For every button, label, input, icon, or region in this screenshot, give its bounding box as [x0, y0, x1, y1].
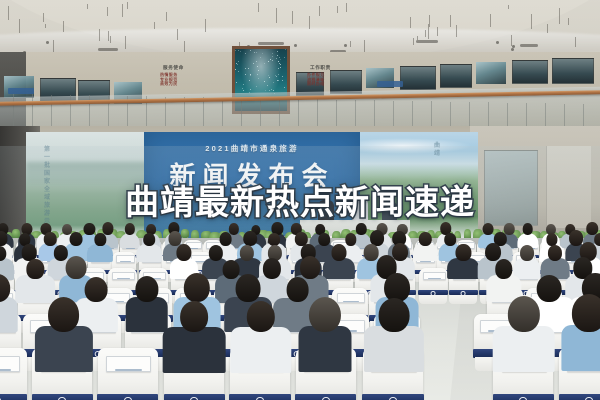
person-head: [236, 274, 261, 302]
chair-sash: [0, 394, 27, 400]
audience-member: [137, 233, 163, 264]
backdrop-right-vertical-text: 曲靖: [434, 142, 442, 158]
person-head: [144, 233, 156, 246]
wall-sign-title-2: 工作职责: [310, 65, 331, 71]
chair-name-card: [0, 356, 20, 372]
audience-member: [125, 276, 168, 337]
person-torso: [561, 325, 600, 371]
person-head: [176, 244, 191, 261]
person-torso: [364, 326, 424, 372]
person-head: [300, 256, 320, 278]
person-torso: [137, 244, 163, 262]
person-head: [508, 296, 540, 332]
person-head: [247, 301, 275, 333]
right-wall-panel: [546, 146, 591, 228]
audience-member: [299, 297, 352, 379]
chair-back: [0, 348, 27, 400]
audience-member: [364, 298, 424, 378]
person-torso: [0, 297, 18, 332]
person-head: [522, 223, 533, 235]
audience-member: [163, 301, 226, 378]
right-glass-partition: [484, 150, 538, 226]
person-head: [378, 298, 409, 333]
audience-member: [35, 297, 93, 379]
wall-sign-lines-2: 办件规范流程清晰限时办结: [307, 73, 325, 87]
blue-sign-left: [8, 88, 34, 94]
audience-chair: [0, 348, 27, 400]
news-hero-image: 服务使命 热情服务专业规范高效为民 工作职责 办件规范流程清晰限时办结 第一批国…: [0, 0, 600, 400]
person-torso: [230, 327, 291, 373]
audience-chair: [98, 348, 158, 400]
person-head: [419, 232, 431, 246]
person-head: [244, 231, 258, 246]
person-torso: [163, 327, 226, 373]
person-head: [572, 294, 600, 332]
person-torso: [35, 326, 93, 372]
stage-speaker-1: [318, 200, 334, 220]
person-torso: [492, 326, 555, 372]
audience-member: [413, 232, 437, 264]
chair-name-card: [116, 255, 135, 263]
audience-member: [492, 296, 555, 378]
stage-speaker-3: [382, 201, 397, 220]
wall-sign-lines-1: 热情服务专业规范高效为民: [160, 73, 178, 87]
audience-member: [0, 274, 18, 337]
person-head: [27, 259, 44, 278]
person-head: [184, 273, 210, 303]
person-head: [135, 276, 158, 302]
person-head: [95, 233, 106, 246]
person-torso: [299, 326, 352, 372]
wall-sign-title-1: 服务使命: [163, 65, 184, 71]
person-torso: [448, 258, 480, 280]
person-head: [22, 244, 37, 261]
person-head: [180, 301, 208, 332]
person-torso: [125, 297, 168, 332]
person-head: [456, 244, 471, 261]
chair-sash: [559, 394, 600, 400]
audience-member: [230, 301, 291, 379]
person-head: [495, 259, 513, 279]
person-head: [48, 297, 80, 333]
person-head: [485, 243, 501, 261]
person-head: [240, 245, 254, 261]
person-torso: [413, 243, 437, 261]
banner-title: 新闻发布会: [144, 156, 360, 193]
blue-sign-right: [377, 81, 403, 87]
person-head: [331, 244, 346, 261]
person-head: [548, 245, 562, 261]
person-head: [66, 256, 87, 279]
chair-name-card: [423, 272, 446, 281]
person-head: [309, 297, 341, 333]
chair-back: [98, 348, 158, 400]
stage-speaker-2: [352, 198, 368, 220]
audience-member: [448, 244, 480, 283]
person-head: [520, 245, 534, 261]
person-head: [124, 223, 134, 235]
chair-skirt: [449, 295, 477, 304]
banner-subtitle: 2021曲靖市通泉旅游: [144, 143, 360, 154]
audience-member: [561, 294, 600, 378]
chair-name-card: [106, 356, 151, 372]
person-head: [209, 245, 223, 261]
